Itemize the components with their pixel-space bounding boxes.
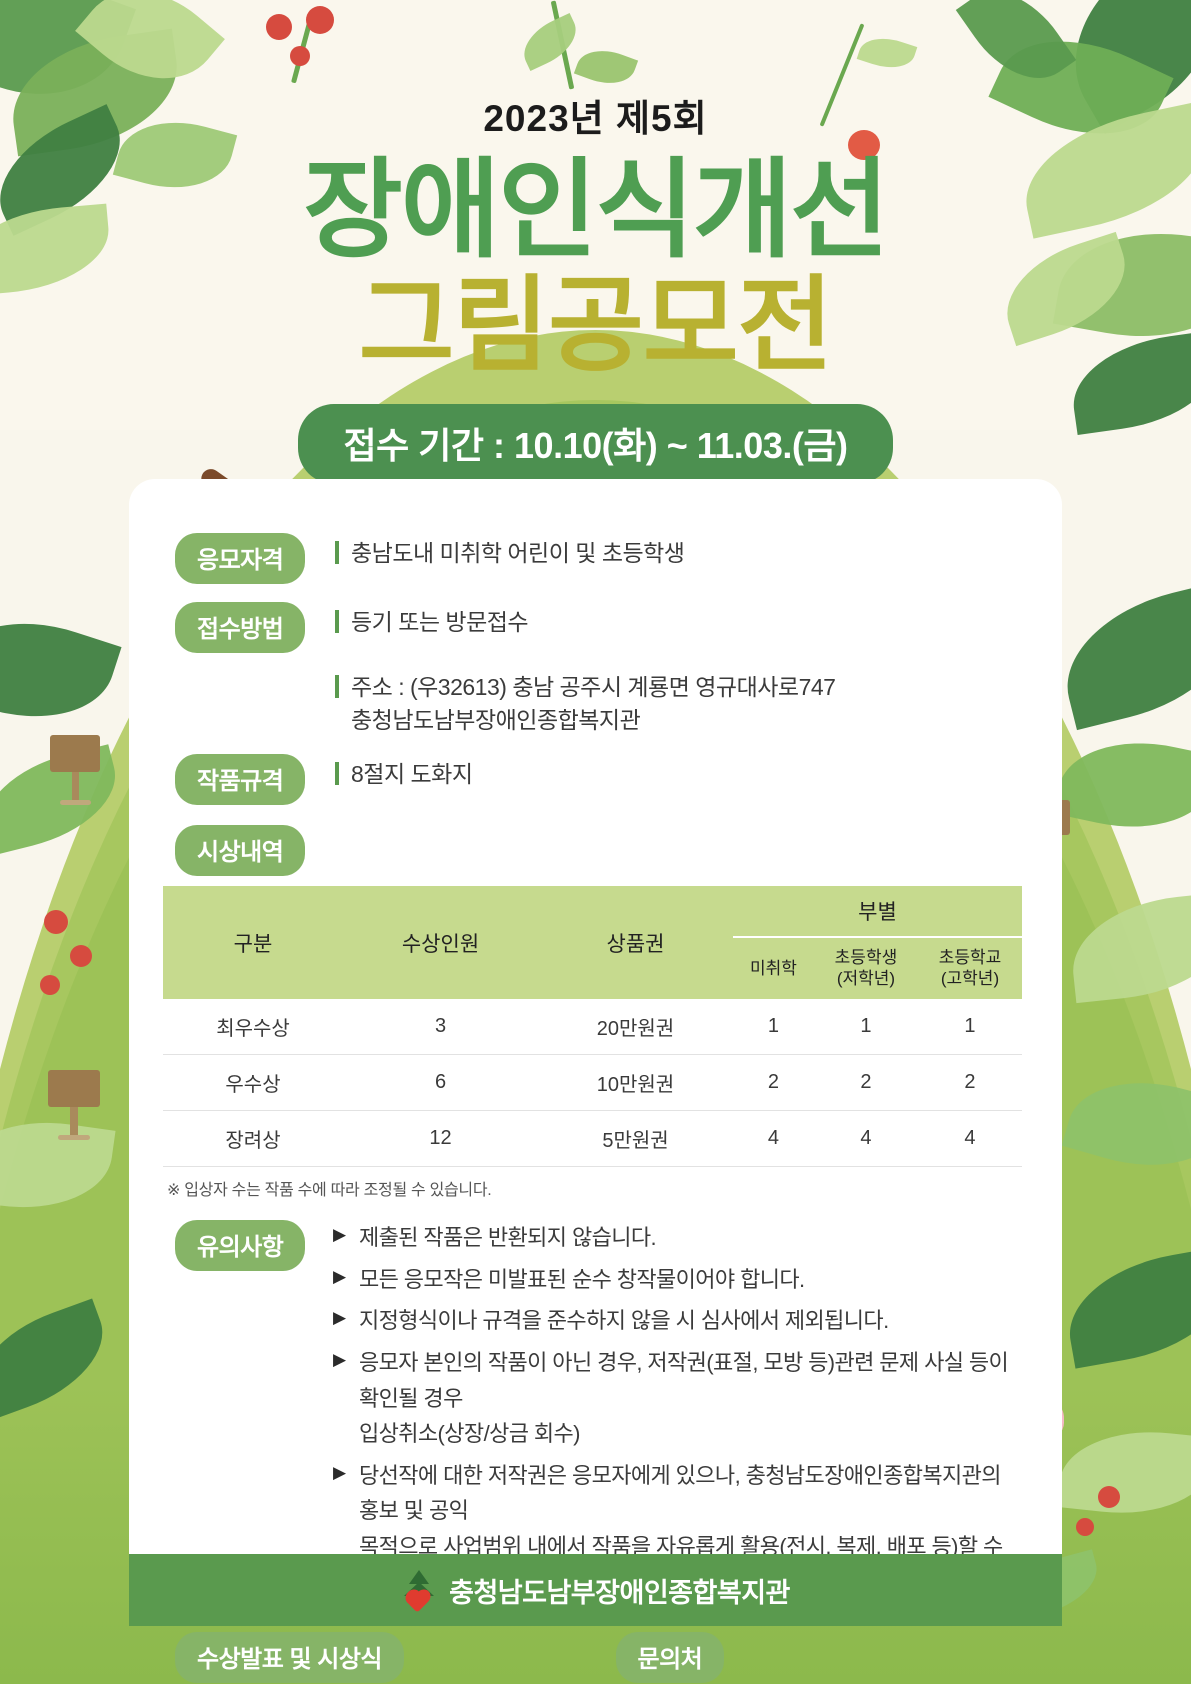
- cell-award-pre: 4: [733, 1111, 814, 1167]
- leaf-decoration: [1050, 580, 1191, 730]
- notice-item-line1: 당선작에 대한 저작권은 응모자에게 있으나, 충청남도장애인종합복지관의 홍보…: [359, 1463, 1001, 1524]
- berry-decoration: [44, 910, 68, 934]
- table-header-row-top: 구분 수상인원 상품권 부별: [163, 886, 1022, 937]
- th-sub-lower-l2: (저학년): [837, 969, 895, 988]
- cell-award-pre: 1: [733, 999, 814, 1055]
- cell-award-low: 2: [814, 1055, 918, 1111]
- spec-text-col: 8절지 도화지: [333, 754, 1022, 791]
- notices-list: 제출된 작품은 반환되지 않습니다. 모든 응모작은 미발표된 순수 창작물이어…: [333, 1220, 1022, 1606]
- award-label-row: 시상내역: [163, 825, 1022, 876]
- method-text: 등기 또는 방문접수: [333, 606, 1022, 639]
- notices-pill-col: 유의사항: [163, 1220, 333, 1606]
- eligibility-label: 응모자격: [175, 533, 305, 584]
- th-sub-upper: 초등학교 (고학년): [918, 937, 1022, 999]
- cell-award-high: 4: [918, 1111, 1022, 1167]
- notice-item: 제출된 작품은 반환되지 않습니다.: [333, 1220, 1022, 1256]
- cell-award-high: 2: [918, 1055, 1022, 1111]
- notices-section: 유의사항 제출된 작품은 반환되지 않습니다. 모든 응모작은 미발표된 순수 …: [163, 1220, 1022, 1606]
- award-table-body: 최우수상 3 20만원권 1 1 1 우수상 6 10만원권 2 2 2 장려상: [163, 999, 1022, 1167]
- signpost-decoration: [50, 735, 100, 797]
- award-table-head: 구분 수상인원 상품권 부별 미취학 초등학생 (저학년) 초등학교 (고: [163, 886, 1022, 999]
- cell-award-low: 4: [814, 1111, 918, 1167]
- bottom-columns: 수상발표 및 시상식 결과발표 : 2023. 11. 15.(수) 시상식 :…: [163, 1632, 1022, 1684]
- th-sub-lower: 초등학생 (저학년): [814, 937, 918, 999]
- footer-bar: 충청남도남부장애인종합복지관: [129, 1554, 1062, 1626]
- address-text: 주소 : (우32613) 충남 공주시 계룡면 영규대사로747 충청남도남부…: [333, 671, 1022, 736]
- award-table-footnote: ※ 입상자 수는 작품 수에 따라 조정될 수 있습니다.: [163, 1176, 1022, 1200]
- cell-award-prize: 20만원권: [538, 999, 733, 1055]
- notice-item: 응모자 본인의 작품이 아닌 경우, 저작권(표절, 모방 등)관련 문제 사실…: [333, 1345, 1022, 1452]
- address-line2: 충청남도남부장애인종합복지관: [351, 707, 640, 733]
- poster-title-line2: 그림공모전: [0, 267, 1191, 386]
- eligibility-text: 충남도내 미취학 어린이 및 초등학생: [333, 537, 1022, 570]
- table-row: 최우수상 3 20만원권 1 1 1: [163, 999, 1022, 1055]
- eligibility-row: 응모자격 충남도내 미취학 어린이 및 초등학생: [163, 533, 1022, 584]
- spec-pill-col: 작품규격: [163, 754, 333, 805]
- berry-decoration: [70, 945, 92, 967]
- info-card: 응모자격 충남도내 미취학 어린이 및 초등학생 접수방법 등기 또는 방문접수…: [129, 479, 1062, 1554]
- organization-logo-icon: [401, 1570, 437, 1610]
- notice-item: 지정형식이나 규격을 준수하지 않을 시 심사에서 제외됩니다.: [333, 1303, 1022, 1339]
- th-sub-preschool: 미취학: [733, 937, 814, 999]
- th-count: 수상인원: [343, 886, 538, 999]
- th-category: 구분: [163, 886, 343, 999]
- leaf-decoration: [0, 598, 122, 743]
- th-prize: 상품권: [538, 886, 733, 999]
- poster-root: 2023년 제5회 장애인식개선 그림공모전 접수 기간 : 10.10(화) …: [0, 0, 1191, 1684]
- berry-decoration: [1076, 1518, 1094, 1536]
- notice-item-line1: 제출된 작품은 반환되지 않습니다.: [359, 1225, 656, 1250]
- method-pill-col: 접수방법: [163, 602, 333, 653]
- award-table: 구분 수상인원 상품권 부별 미취학 초등학생 (저학년) 초등학교 (고: [163, 886, 1022, 1167]
- award-label: 시상내역: [175, 825, 305, 876]
- th-group: 부별: [733, 886, 1022, 937]
- berry-decoration: [1098, 1486, 1120, 1508]
- eligibility-text-col: 충남도내 미취학 어린이 및 초등학생: [333, 533, 1022, 570]
- cell-award-name: 장려상: [163, 1111, 343, 1167]
- contact-label: 문의처: [616, 1632, 725, 1683]
- year-line: 2023년 제5회: [0, 88, 1191, 142]
- poster-header: 2023년 제5회 장애인식개선 그림공모전 접수 기간 : 10.10(화) …: [0, 0, 1191, 484]
- ceremony-column: 수상발표 및 시상식 결과발표 : 2023. 11. 15.(수) 시상식 :…: [163, 1632, 582, 1684]
- method-row: 접수방법 등기 또는 방문접수: [163, 602, 1022, 653]
- method-text-col: 등기 또는 방문접수: [333, 602, 1022, 639]
- cell-award-prize: 10만원권: [538, 1055, 733, 1111]
- table-row: 우수상 6 10만원권 2 2 2: [163, 1055, 1022, 1111]
- notice-item-line2: 입상취소(상장/상금 회수): [359, 1416, 1022, 1452]
- address-text-col: 주소 : (우32613) 충남 공주시 계룡면 영규대사로747 충청남도남부…: [333, 667, 1022, 736]
- submission-period-banner: 접수 기간 : 10.10(화) ~ 11.03.(금): [298, 404, 894, 484]
- cell-award-name: 우수상: [163, 1055, 343, 1111]
- notice-item: 모든 응모작은 미발표된 순수 창작물이어야 합니다.: [333, 1262, 1022, 1298]
- cell-award-high: 1: [918, 999, 1022, 1055]
- notices-label: 유의사항: [175, 1220, 305, 1271]
- cell-award-name: 최우수상: [163, 999, 343, 1055]
- signpost-decoration: [48, 1070, 100, 1132]
- address-row: 주소 : (우32613) 충남 공주시 계룡면 영규대사로747 충청남도남부…: [163, 667, 1022, 736]
- address-line1: 주소 : (우32613) 충남 공주시 계룡면 영규대사로747: [351, 674, 835, 700]
- ceremony-label: 수상발표 및 시상식: [175, 1632, 404, 1683]
- footer-organization-name: 충청남도남부장애인종합복지관: [449, 1571, 790, 1610]
- notice-item-line1: 응모자 본인의 작품이 아닌 경우, 저작권(표절, 모방 등)관련 문제 사실…: [359, 1350, 1008, 1411]
- contact-column: 문의처 (대표번호) 041-856-7071~2 (직통번호) 041-960…: [582, 1632, 1023, 1684]
- table-row: 장려상 12 5만원권 4 4 4: [163, 1111, 1022, 1167]
- spec-text: 8절지 도화지: [333, 758, 1022, 791]
- award-pill-col: 시상내역: [163, 825, 333, 876]
- method-label: 접수방법: [175, 602, 305, 653]
- cell-award-low: 1: [814, 999, 918, 1055]
- cell-award-count: 3: [343, 999, 538, 1055]
- notice-item-line1: 모든 응모작은 미발표된 순수 창작물이어야 합니다.: [359, 1267, 805, 1292]
- cell-award-pre: 2: [733, 1055, 814, 1111]
- cell-award-prize: 5만원권: [538, 1111, 733, 1167]
- cell-award-count: 12: [343, 1111, 538, 1167]
- th-sub-upper-l2: (고학년): [941, 969, 999, 988]
- berry-decoration: [40, 975, 60, 995]
- eligibility-pill-col: 응모자격: [163, 533, 333, 584]
- cell-award-count: 6: [343, 1055, 538, 1111]
- th-sub-lower-l1: 초등학생: [835, 948, 898, 967]
- notice-item-line1: 지정형식이나 규격을 준수하지 않을 시 심사에서 제외됩니다.: [359, 1308, 889, 1333]
- spec-row: 작품규격 8절지 도화지: [163, 754, 1022, 805]
- th-sub-preschool-l1: 미취학: [750, 959, 797, 978]
- th-sub-upper-l1: 초등학교: [939, 948, 1002, 967]
- spec-label: 작품규격: [175, 754, 305, 805]
- poster-title-line1: 장애인식개선: [0, 148, 1191, 271]
